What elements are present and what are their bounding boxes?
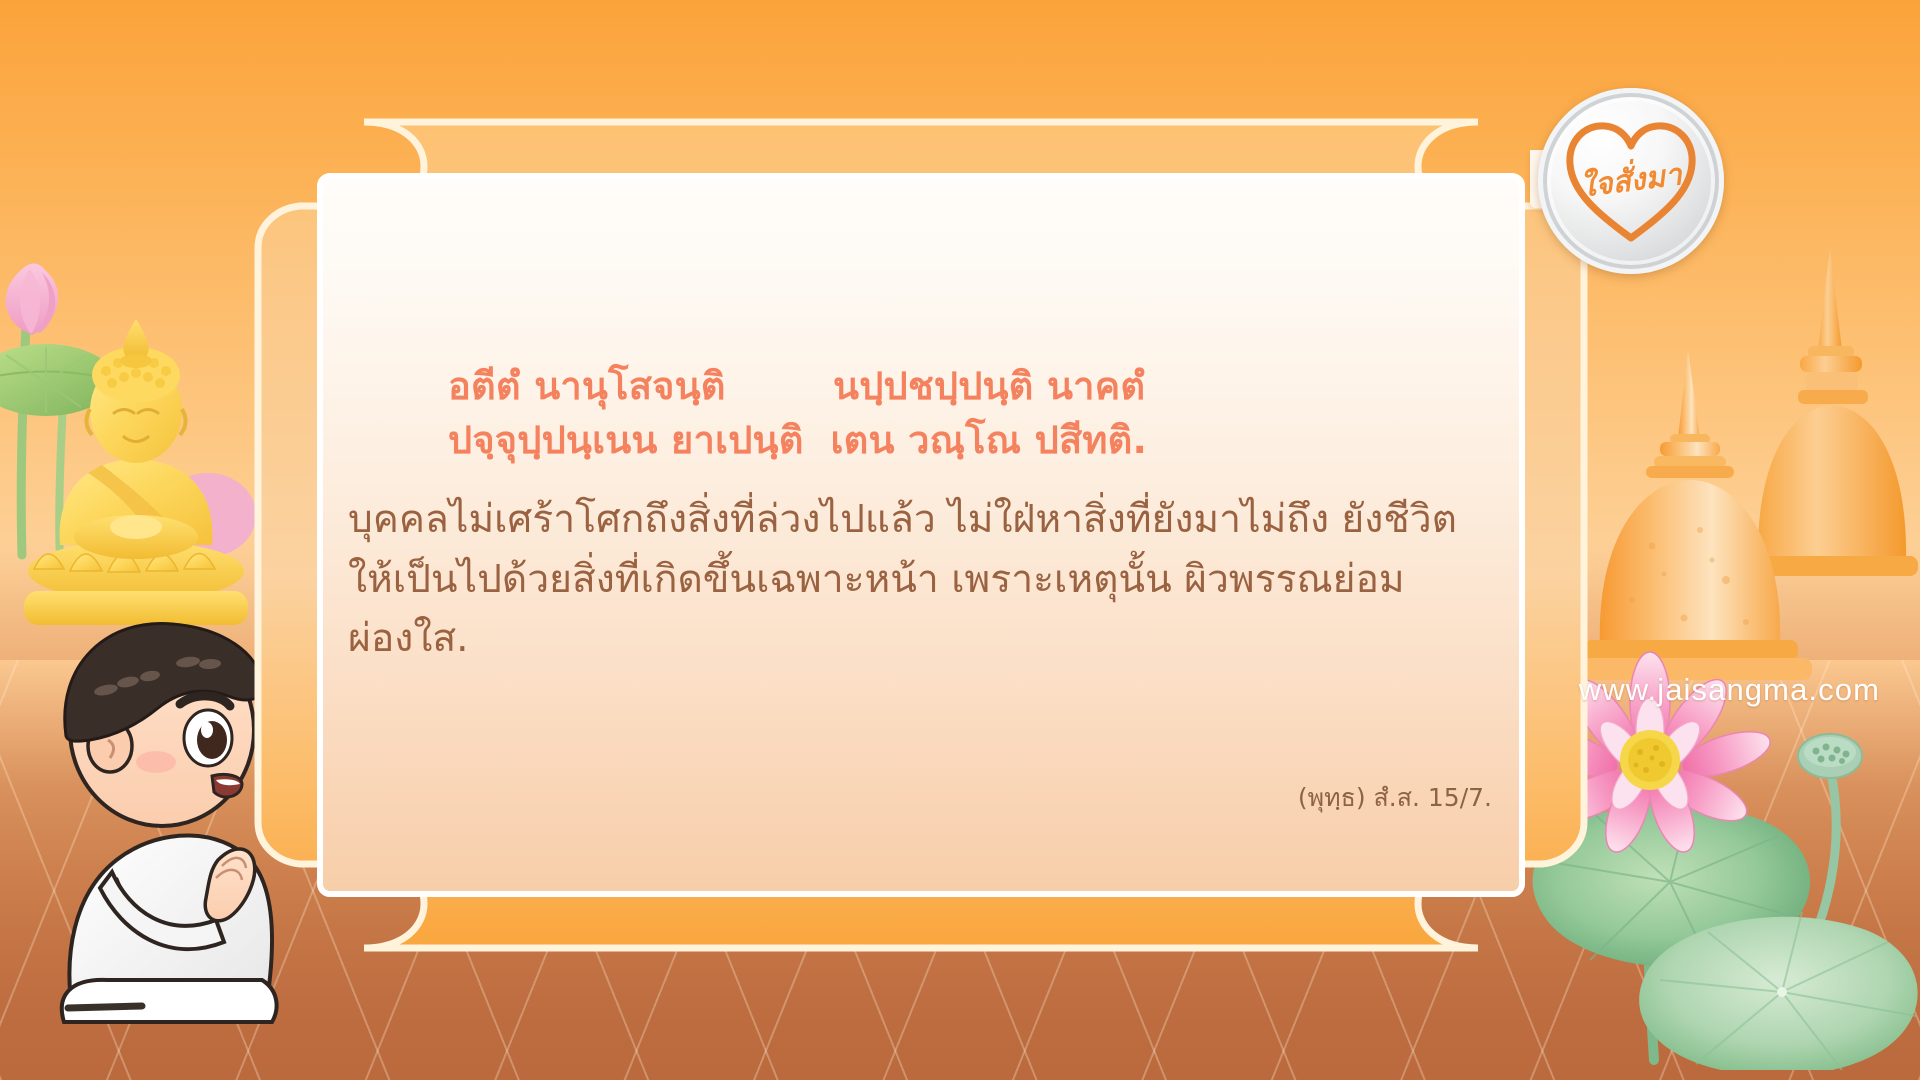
pali-line-1: อตีตํ นานุโสจนฺติ นปฺปชปฺปนฺติ นาคตํ: [360, 360, 1470, 414]
pali-line-2: ปจฺจุปฺปนฺเนน ยาเปนฺติ เตน วณฺโณ ปสีทติ.: [360, 414, 1470, 468]
brand-logo-badge[interactable]: ใจสั่งมา: [1538, 88, 1724, 274]
poster-canvas: อตีตํ นานุโสจนฺติ นปฺปชปฺปนฺติ นาคตํ ปจฺ…: [0, 0, 1920, 1080]
scripture-attribution: (พุทฺธ) สํ.ส. 15/7.: [1298, 778, 1492, 818]
website-url[interactable]: www.jaisangma.com: [1579, 672, 1880, 708]
thai-translation: บุคคลไม่เศร้าโศกถึงสิ่งที่ล่วงไปแล้ว ไม่…: [348, 490, 1478, 669]
card-content: อตีตํ นานุโสจนฺติ นปฺปชปฺปนฺติ นาคตํ ปจฺ…: [300, 160, 1540, 910]
pali-verse: อตีตํ นานุโสจนฺติ นปฺปชปฺปนฺติ นาคตํ ปจฺ…: [360, 360, 1470, 468]
